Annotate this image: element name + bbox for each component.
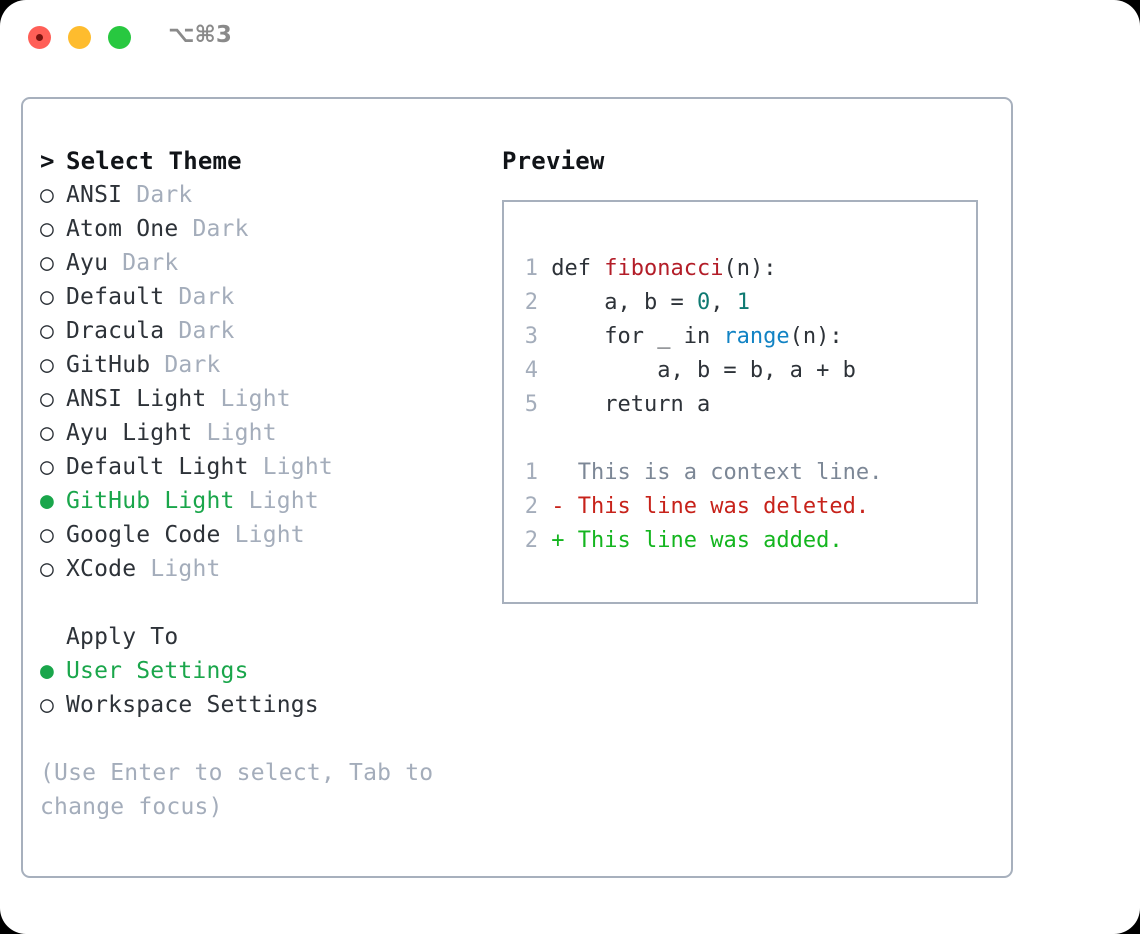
theme-name: ANSI — [66, 182, 122, 208]
theme-name: Atom One — [66, 216, 178, 242]
radio-unselected-icon: ○ — [40, 314, 66, 348]
diff-text: This line was added. — [578, 528, 843, 553]
theme-list-item-github[interactable]: ○GitHub Dark — [40, 348, 480, 382]
code-line: 5 return a — [504, 388, 976, 422]
radio-unselected-icon: ○ — [40, 450, 66, 484]
code-line: 3 for _ in range(n): — [504, 320, 976, 354]
apply-to-item-workspace-settings[interactable]: ○Workspace Settings — [40, 688, 480, 722]
theme-variant: Light — [207, 420, 277, 446]
theme-name: Google Code — [66, 522, 221, 548]
theme-name: Ayu Light — [66, 420, 192, 446]
keyboard-hint-text: (Use Enter to select, Tab to change focu… — [40, 756, 440, 824]
keyboard-shortcut-label: ⌥⌘3 — [168, 22, 232, 48]
title-bar: ⌥⌘3 — [0, 0, 1140, 78]
theme-variant: Light — [263, 454, 333, 480]
line-number: 2 — [523, 524, 538, 558]
theme-name: ANSI Light — [66, 386, 206, 412]
theme-list-item-dracula[interactable]: ○Dracula Dark — [40, 314, 480, 348]
theme-list: ○ANSI Dark ○Atom One Dark ○Ayu Dark ○Def… — [40, 178, 480, 586]
radio-selected-icon: ● — [40, 484, 66, 518]
traffic-light-controls — [28, 26, 131, 49]
line-number: 2 — [523, 490, 538, 524]
theme-name: GitHub — [66, 352, 150, 378]
theme-list-item-default-light[interactable]: ○Default Light Light — [40, 450, 480, 484]
line-number: 5 — [523, 388, 538, 422]
code-token: (n): — [790, 324, 843, 349]
radio-unselected-icon: ○ — [40, 382, 66, 416]
theme-list-item-ayu-light[interactable]: ○Ayu Light Light — [40, 416, 480, 450]
theme-variant: Dark — [178, 284, 234, 310]
theme-name: Ayu — [66, 250, 108, 276]
apply-to-name: Workspace Settings — [66, 692, 319, 718]
theme-variant: Light — [235, 522, 305, 548]
theme-list-item-xcode[interactable]: ○XCode Light — [40, 552, 480, 586]
radio-unselected-icon: ○ — [40, 178, 66, 212]
theme-list-item-google-code[interactable]: ○Google Code Light — [40, 518, 480, 552]
radio-unselected-icon: ○ — [40, 280, 66, 314]
theme-variant: Dark — [178, 318, 234, 344]
line-number: 1 — [523, 456, 538, 490]
theme-variant: Dark — [164, 352, 220, 378]
theme-name: Dracula — [66, 318, 164, 344]
apply-to-label: Apply To — [40, 620, 480, 654]
theme-variant: Light — [221, 386, 291, 412]
theme-list-item-atom-one[interactable]: ○Atom One Dark — [40, 212, 480, 246]
cursor-caret-icon: > — [40, 144, 66, 178]
line-number: 4 — [523, 354, 538, 388]
maximize-button[interactable] — [108, 26, 131, 49]
diff-line-deleted: 2 - This line was deleted. — [504, 490, 976, 524]
code-token: return a — [551, 392, 710, 417]
code-diff-spacer — [504, 422, 976, 456]
radio-unselected-icon: ○ — [40, 688, 66, 722]
theme-list-item-github-light[interactable]: ●GitHub Light Light — [40, 484, 480, 518]
main-panel: >Select Theme ○ANSI Dark ○Atom One Dark … — [21, 97, 1013, 878]
theme-variant: Light — [249, 488, 319, 514]
radio-unselected-icon: ○ — [40, 348, 66, 382]
list-spacer — [40, 586, 480, 620]
theme-list-item-ansi[interactable]: ○ANSI Dark — [40, 178, 480, 212]
line-number: 1 — [523, 252, 538, 286]
theme-list-item-default[interactable]: ○Default Dark — [40, 280, 480, 314]
code-token: a, b = b, a + b — [551, 358, 856, 383]
code-token-builtin: range — [723, 324, 789, 349]
radio-unselected-icon: ○ — [40, 246, 66, 280]
code-token-number: 1 — [737, 290, 750, 315]
theme-list-item-ayu[interactable]: ○Ayu Dark — [40, 246, 480, 280]
theme-name: XCode — [66, 556, 136, 582]
diff-marker — [551, 460, 578, 485]
select-theme-header: >Select Theme — [40, 144, 480, 178]
radio-unselected-icon: ○ — [40, 212, 66, 246]
diff-marker: + — [551, 528, 578, 553]
apply-to-item-user-settings[interactable]: ●User Settings — [40, 654, 480, 688]
apply-to-list: ●User Settings ○Workspace Settings — [40, 654, 480, 722]
code-line: 1 def fibonacci(n): — [504, 252, 976, 286]
code-token-function: fibonacci — [604, 256, 723, 281]
theme-name: Default Light — [66, 454, 249, 480]
theme-name: Default — [66, 284, 164, 310]
diff-line-added: 2 + This line was added. — [504, 524, 976, 558]
theme-variant: Dark — [136, 182, 192, 208]
line-number: 3 — [523, 320, 538, 354]
theme-variant: Dark — [122, 250, 178, 276]
radio-unselected-icon: ○ — [40, 416, 66, 450]
code-token: a, b = — [551, 290, 697, 315]
code-token: , — [710, 290, 737, 315]
line-number: 2 — [523, 286, 538, 320]
apply-to-name: User Settings — [66, 658, 249, 684]
theme-variant: Dark — [192, 216, 248, 242]
radio-unselected-icon: ○ — [40, 552, 66, 586]
code-token: for _ in — [551, 324, 723, 349]
code-token-number: 0 — [697, 290, 710, 315]
diff-line-context: 1 This is a context line. — [504, 456, 976, 490]
select-theme-header-label: Select Theme — [66, 147, 242, 175]
code-line: 4 a, b = b, a + b — [504, 354, 976, 388]
code-line: 2 a, b = 0, 1 — [504, 286, 976, 320]
radio-unselected-icon: ○ — [40, 518, 66, 552]
theme-variant: Light — [150, 556, 220, 582]
preview-code-box: 1 def fibonacci(n): 2 a, b = 0, 1 3 for … — [502, 200, 978, 604]
preview-title: Preview — [502, 144, 992, 178]
code-token: def — [551, 256, 604, 281]
diff-text: This is a context line. — [578, 460, 883, 485]
diff-text: This line was deleted. — [578, 494, 869, 519]
theme-list-item-ansi-light[interactable]: ○ANSI Light Light — [40, 382, 480, 416]
theme-selector-column: >Select Theme ○ANSI Dark ○Atom One Dark … — [40, 144, 480, 824]
code-token: (n): — [723, 256, 776, 281]
diff-marker: - — [551, 494, 578, 519]
preview-column: Preview 1 def fibonacci(n): 2 a, b = 0, … — [502, 144, 992, 604]
app-window: ⌥⌘3 >Select Theme ○ANSI Dark ○Atom One D… — [0, 0, 1140, 934]
minimize-button[interactable] — [68, 26, 91, 49]
close-button[interactable] — [28, 26, 51, 49]
theme-name: GitHub Light — [66, 488, 235, 514]
radio-selected-icon: ● — [40, 654, 66, 688]
